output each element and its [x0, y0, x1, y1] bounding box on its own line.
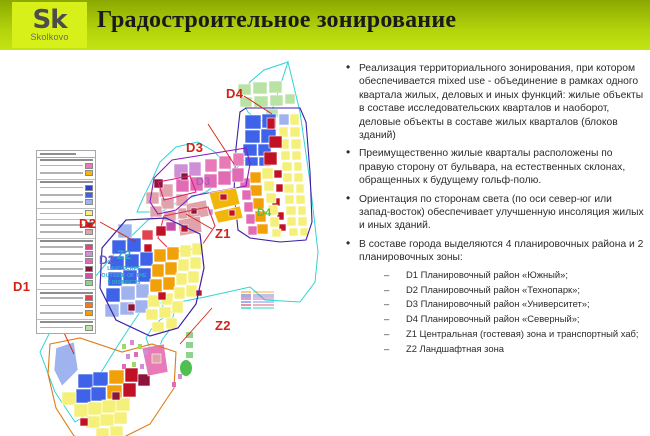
district-area-table — [241, 291, 283, 310]
table-row — [241, 307, 283, 309]
legend-swatch — [85, 295, 93, 301]
map-inline-label-d4: D4 — [257, 207, 271, 219]
table-row — [241, 301, 283, 303]
slide-root: Sk Skolkovo Градостроительное зонировани… — [0, 0, 650, 436]
map-inline-label-d3: D3 — [196, 176, 210, 188]
table-row — [241, 304, 283, 306]
legend-group — [37, 180, 95, 209]
bullet-item: Преимущественно жилые кварталы расположе… — [344, 147, 644, 187]
callout-d1: D1 — [13, 279, 30, 294]
sub-item: Z1 Центральная (гостевая) зона и транспо… — [359, 328, 644, 340]
legend-swatch — [85, 185, 93, 191]
legend-swatch — [85, 325, 93, 331]
zoning-map: Z2 LANDSCAPE OUTSIDE OF THE 5 DISTRICTS … — [0, 52, 340, 436]
legend-swatch — [85, 199, 93, 205]
table-row — [241, 297, 283, 299]
z2-zone-code: Z2 — [78, 248, 170, 262]
sub-item: Z2 Ландшафтная зона — [359, 343, 644, 355]
content-text-column: Реализация территориального зонирования,… — [344, 62, 644, 360]
map-legend — [36, 150, 96, 334]
slide-header: Sk Skolkovo Градостроительное зонировани… — [0, 0, 650, 50]
legend-swatch — [85, 170, 93, 176]
sub-item: D1 Планировочный район «Южный»; — [359, 269, 644, 281]
table-row — [241, 294, 283, 296]
sub-item: D4 Планировочный район «Северный»; — [359, 313, 644, 325]
legend-swatch — [85, 302, 93, 308]
logo-wordmark: Skolkovo — [30, 32, 68, 43]
sub-item: D3 Планировочный район «Университет»; — [359, 298, 644, 310]
legend-group — [37, 320, 95, 334]
z2-note-line3: 5 DISTRICTS — [78, 280, 170, 287]
legend-group — [37, 158, 95, 180]
callout-d4: D4 — [226, 86, 243, 101]
logo-mark: Sk — [32, 8, 66, 32]
bullet-item: В составе города выделяются 4 планировоч… — [344, 238, 644, 355]
legend-swatch — [85, 192, 93, 198]
legend-swatch — [85, 310, 93, 316]
callout-z2: Z2 — [215, 318, 231, 333]
bullet-item-text: В составе города выделяются 4 планировоч… — [359, 239, 643, 263]
bullet-item: Реализация территориального зонирования,… — [344, 62, 644, 142]
skolkovo-logo: Sk Skolkovo — [12, 2, 87, 48]
legend-swatch — [85, 163, 93, 169]
sub-item: D2 Планировочный район «Технопарк»; — [359, 284, 644, 296]
bullet-item: Ориентация по сторонам света (по оси сев… — [344, 193, 644, 233]
bullet-list: Реализация территориального зонирования,… — [344, 62, 644, 355]
callout-z1: Z1 — [215, 226, 231, 241]
sub-list: D1 Планировочный район «Южный»; D2 Плани… — [359, 269, 644, 355]
table-row — [241, 291, 283, 293]
callout-d3: D3 — [186, 140, 203, 155]
legend-group — [37, 290, 95, 319]
map-inline-label-d2: D2 — [99, 253, 114, 267]
callout-d2: D2 — [79, 216, 96, 231]
page-title: Градостроительное зонирование — [97, 7, 456, 34]
